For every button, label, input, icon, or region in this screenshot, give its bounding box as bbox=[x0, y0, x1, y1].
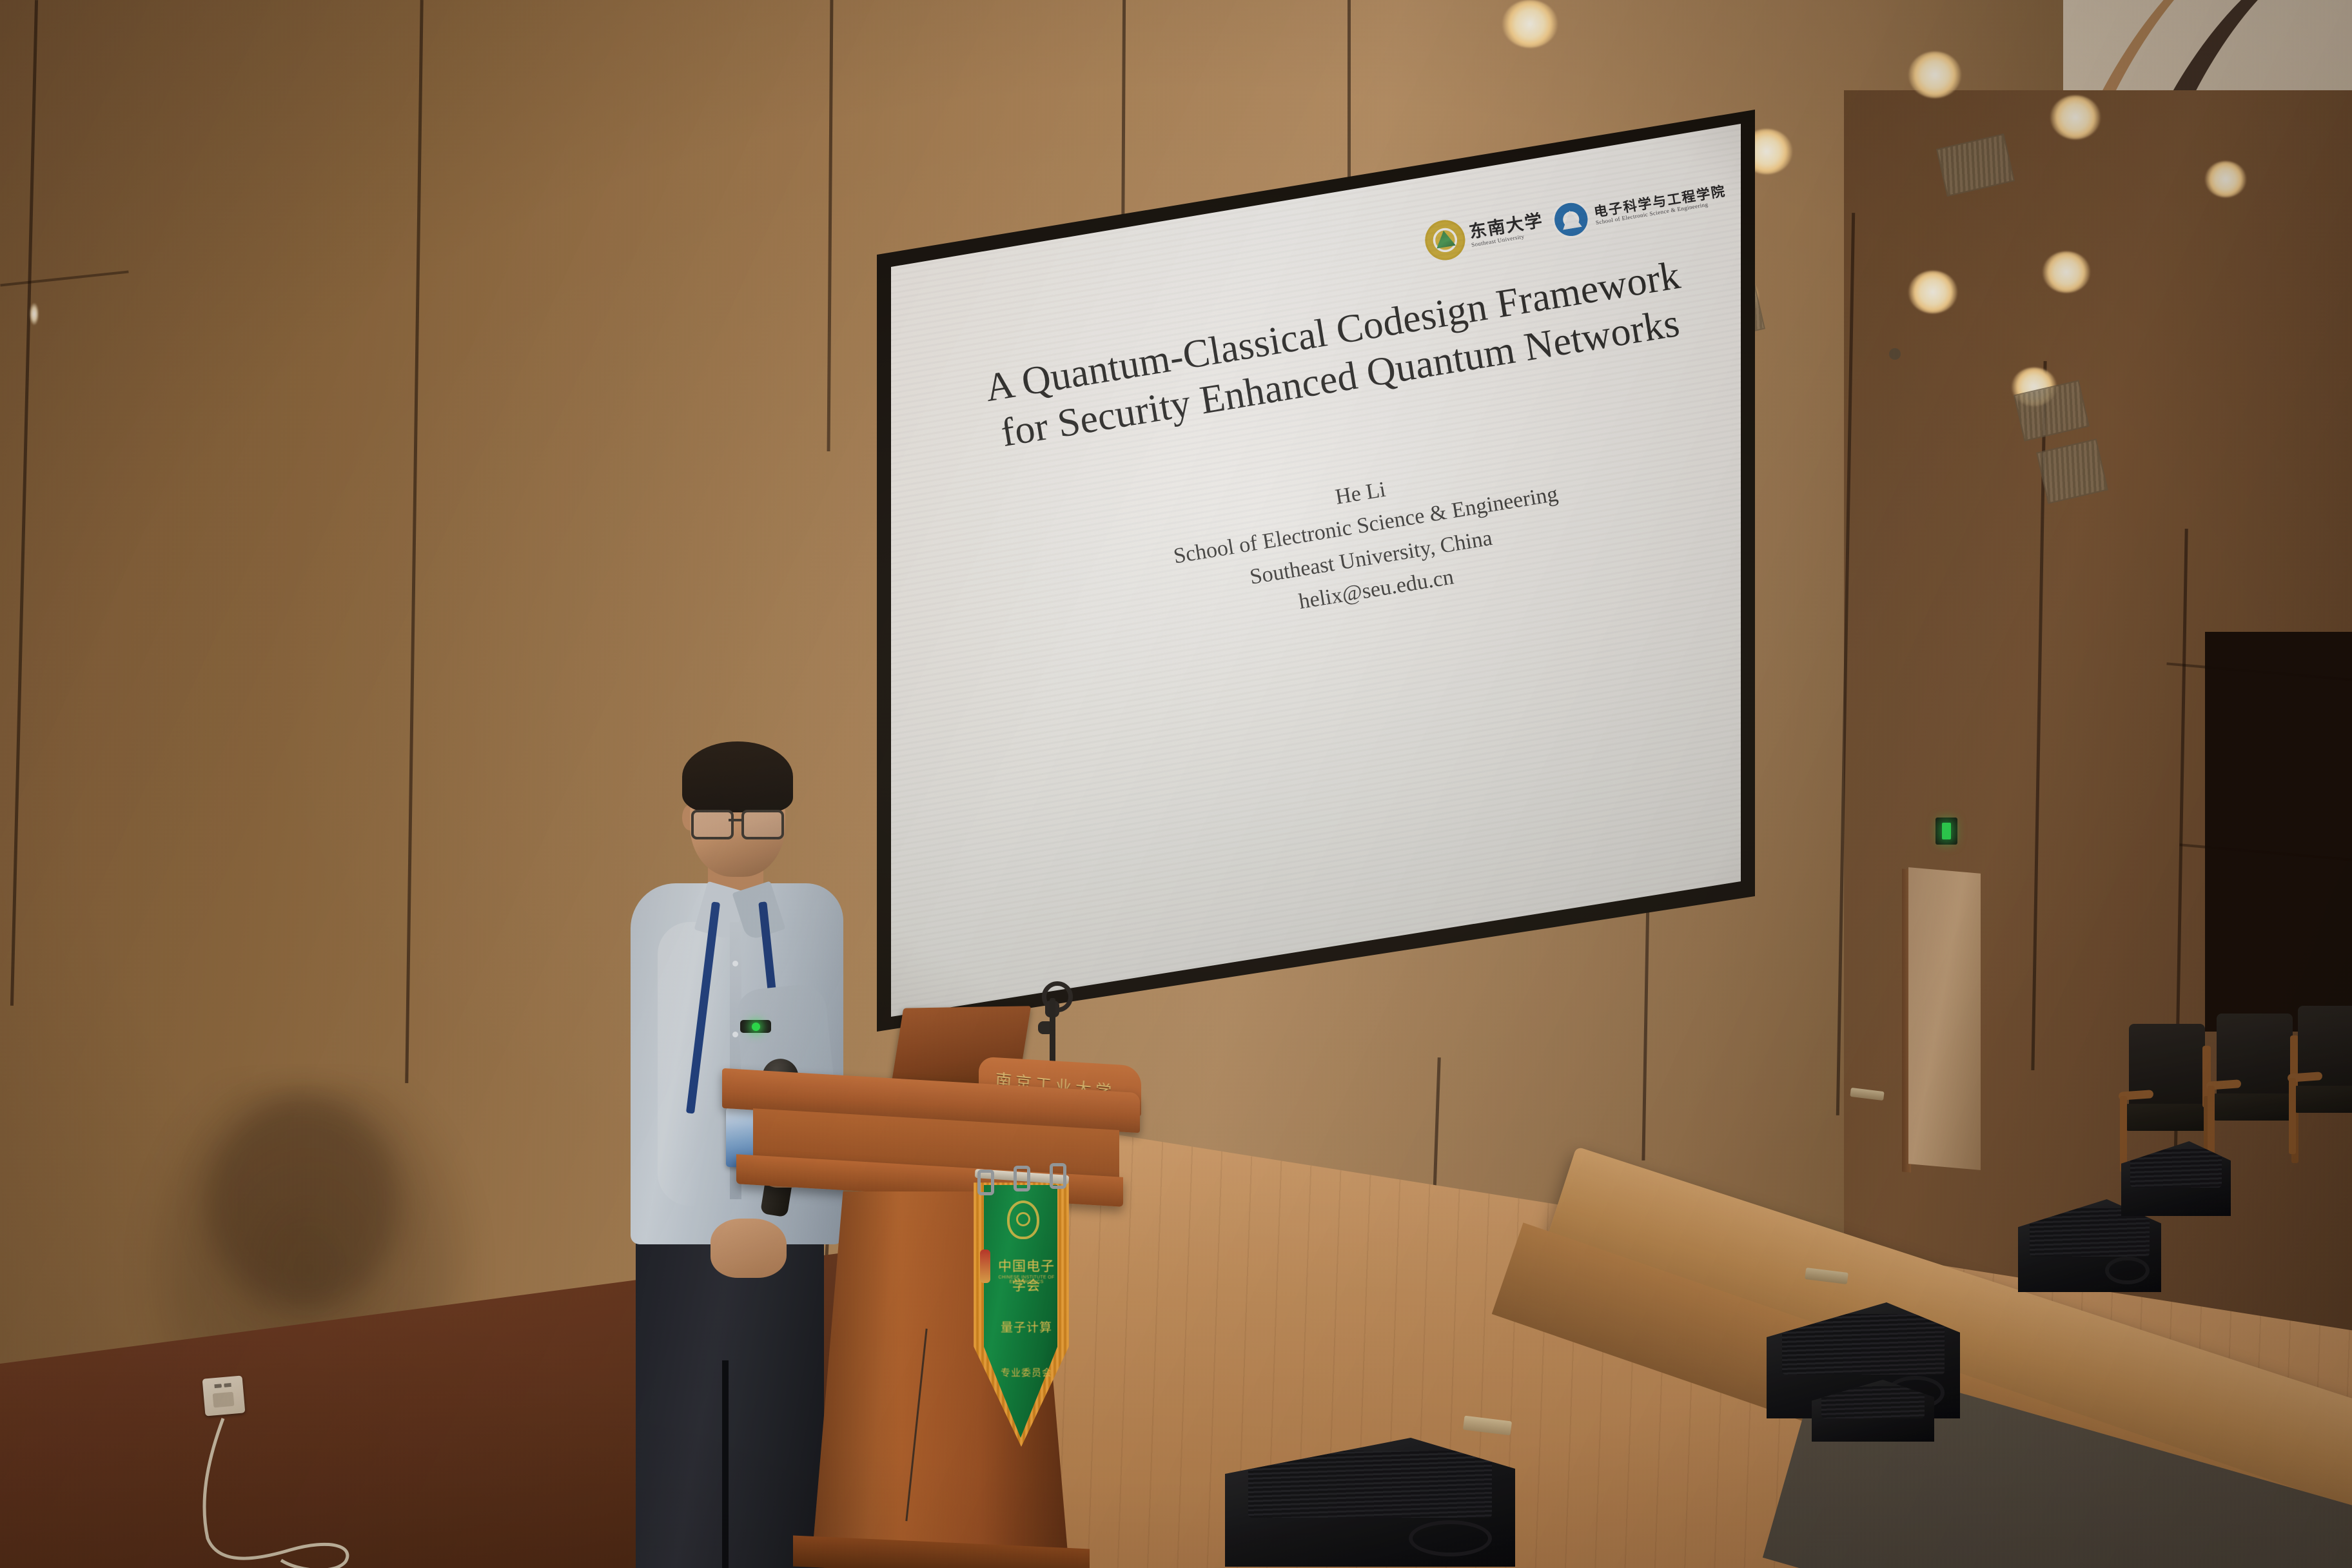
speaker-handle bbox=[2105, 1257, 2150, 1285]
shirt-button bbox=[732, 1032, 738, 1037]
presentation-slide: 东南大学 Southeast University 电子科学与工程学院 Scho… bbox=[903, 137, 1841, 990]
southeast-university-logo: 东南大学 Southeast University bbox=[1422, 204, 1547, 263]
chair-leg bbox=[2120, 1096, 2127, 1172]
lectern-podium: 南京工业大学 中国电子学会 CHINESE INSTITUTE OF ELECT… bbox=[722, 1057, 1161, 1568]
smoke-detector-icon bbox=[1889, 348, 1901, 360]
ceiling-downlight bbox=[1908, 52, 1961, 98]
slide-logo-row: 东南大学 Southeast University 电子科学与工程学院 Scho… bbox=[1422, 174, 1730, 263]
pennant-line-3: 专业委员会 bbox=[997, 1366, 1056, 1379]
pennant-hook-icon bbox=[1050, 1163, 1066, 1189]
exit-sign bbox=[1935, 818, 1957, 845]
speaker-handle bbox=[1409, 1520, 1492, 1556]
pennant-tassel bbox=[980, 1249, 990, 1283]
ceiling-downlight bbox=[1502, 0, 1558, 48]
wall-power-outlet[interactable] bbox=[202, 1375, 246, 1416]
speaker-wall-shadow bbox=[206, 1096, 400, 1309]
chair-seat bbox=[2125, 1104, 2210, 1131]
chair[interactable] bbox=[2293, 1006, 2352, 1161]
microphone-led-indicator bbox=[752, 1023, 760, 1031]
pennant-emblem-icon bbox=[1007, 1200, 1039, 1239]
pennant-hook-icon bbox=[1014, 1166, 1030, 1191]
pennant-line-2: 量子计算 bbox=[999, 1318, 1053, 1335]
award-pennant: 中国电子学会 CHINESE INSTITUTE OF ELECTRONICS … bbox=[974, 1172, 1070, 1451]
chair-leg bbox=[2289, 1078, 2296, 1154]
wall-metal-glint bbox=[30, 303, 39, 325]
ceiling-downlight bbox=[1908, 271, 1957, 313]
eyeglass-lens bbox=[691, 810, 734, 839]
eyeglass-lens bbox=[741, 810, 784, 839]
auditorium-room: 东南大学 Southeast University 电子科学与工程学院 Scho… bbox=[0, 0, 2352, 1568]
chair[interactable] bbox=[2211, 1014, 2302, 1168]
pennant-hook-icon bbox=[977, 1170, 994, 1195]
projection-screen: 东南大学 Southeast University 电子科学与工程学院 Scho… bbox=[857, 110, 1837, 1032]
eyeglasses-icon bbox=[691, 810, 788, 836]
presenter-hair bbox=[682, 741, 793, 812]
pennant-line-1-en: CHINESE INSTITUTE OF ELECTRONICS bbox=[993, 1275, 1060, 1284]
university-seal-icon bbox=[1422, 217, 1468, 263]
power-cable bbox=[161, 1412, 380, 1568]
school-seal-icon bbox=[1549, 198, 1592, 241]
far-wall-recess bbox=[2205, 632, 2352, 1032]
ceiling-downlight bbox=[2205, 161, 2246, 197]
school-of-electronic-science-engineering-logo: 电子科学与工程学院 School of Electronic Science &… bbox=[1549, 175, 1729, 240]
exit-sign-icon bbox=[1942, 823, 1951, 839]
ceiling-downlight bbox=[2050, 95, 2101, 139]
chair-seat bbox=[2294, 1086, 2352, 1113]
chair-seat bbox=[2213, 1093, 2298, 1121]
slide-author-block: He Li School of Electronic Science & Eng… bbox=[986, 416, 1751, 667]
eyeglass-bridge bbox=[729, 819, 741, 821]
shirt-button bbox=[732, 961, 738, 966]
photo-scene: 东南大学 Southeast University 电子科学与工程学院 Scho… bbox=[0, 0, 2352, 1568]
outlet-slots-icon bbox=[214, 1383, 231, 1388]
side-door[interactable] bbox=[1908, 867, 1981, 1170]
ceiling-downlight bbox=[2043, 251, 2090, 293]
